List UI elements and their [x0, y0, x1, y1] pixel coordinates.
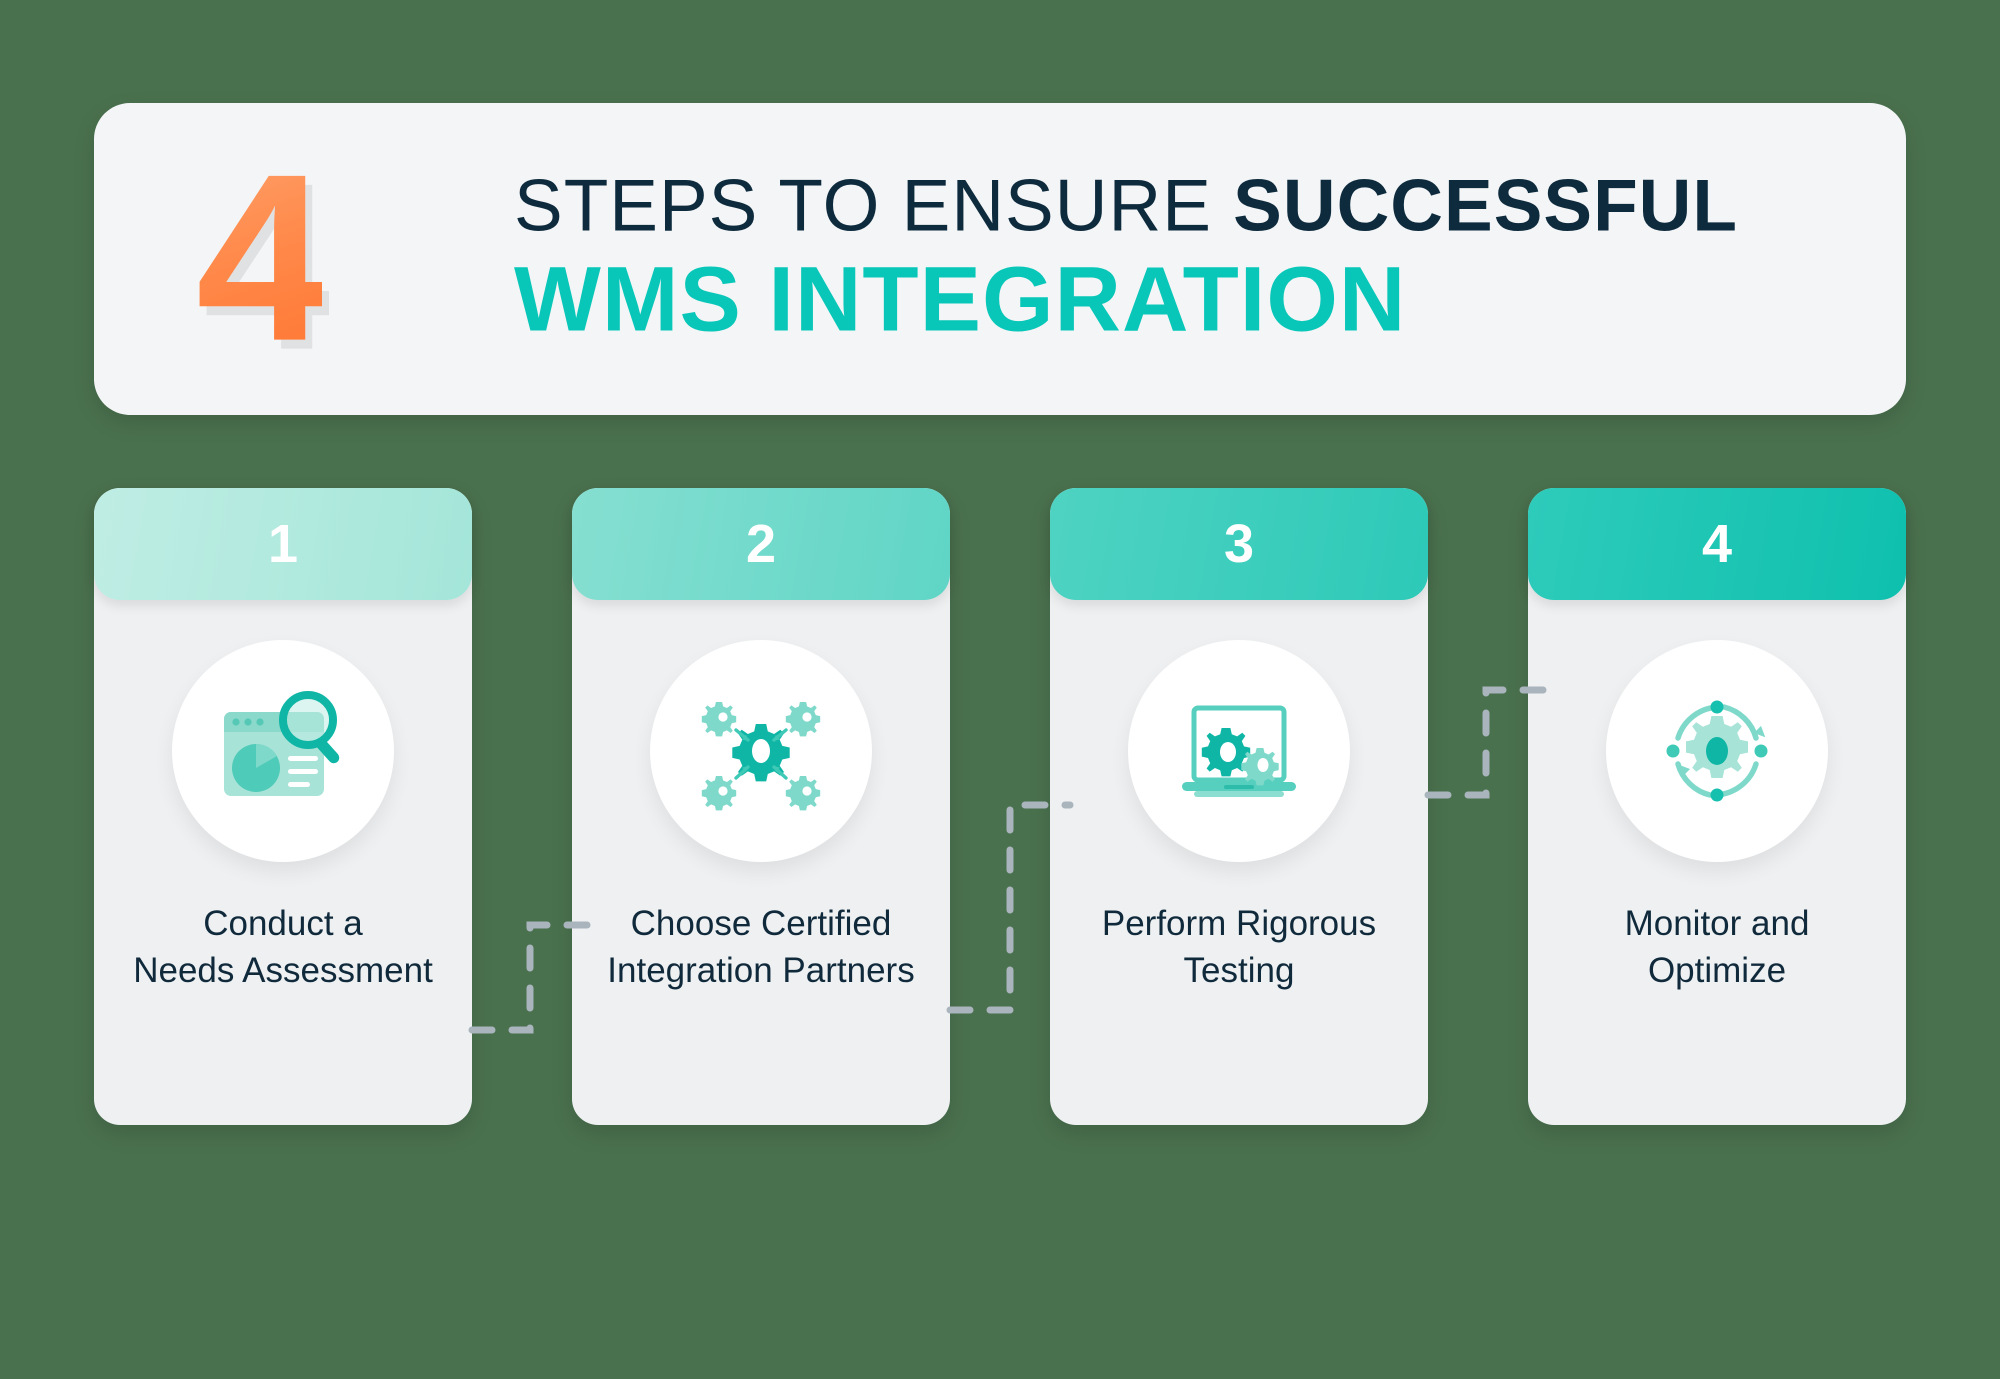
step-number-2: 2 — [746, 517, 776, 571]
dashboard-search-icon — [172, 640, 394, 862]
step-header-2: 2 — [572, 488, 950, 600]
page-title-line-2: WMS INTEGRATION — [514, 251, 1738, 350]
step-caption-4: Monitor and Optimize — [1538, 900, 1896, 995]
step-number-3: 3 — [1224, 517, 1254, 571]
step-card-1[interactable]: 1 Conduct a Needs Assessment — [94, 488, 472, 1125]
step-header-3: 3 — [1050, 488, 1428, 600]
header-card: 4 STEPS TO ENSURE SUCCESSFUL WMS INTEGRA… — [94, 103, 1906, 415]
page-title-line-1: STEPS TO ENSURE SUCCESSFUL — [514, 168, 1738, 245]
step-card-3[interactable]: 3 Perform Rigorous Testing — [1050, 488, 1428, 1125]
title-bold-text: SUCCESSFUL — [1233, 166, 1738, 247]
step-card-4[interactable]: 4 — [1528, 488, 1906, 1125]
gear-cycle-icon — [1606, 640, 1828, 862]
step-caption-1: Conduct a Needs Assessment — [104, 900, 462, 995]
step-caption-2: Choose Certified Integration Partners — [582, 900, 940, 995]
laptop-gears-icon — [1128, 640, 1350, 862]
header-title-block: STEPS TO ENSURE SUCCESSFUL WMS INTEGRATI… — [514, 168, 1738, 351]
step-number-1: 1 — [268, 517, 298, 571]
step-caption-3: Perform Rigorous Testing — [1060, 900, 1418, 995]
step-count-number: 4 — [196, 157, 322, 362]
step-header-1: 1 — [94, 488, 472, 600]
title-regular-text: STEPS TO ENSURE — [514, 166, 1233, 247]
gear-network-icon — [650, 640, 872, 862]
step-card-2[interactable]: 2 — [572, 488, 950, 1125]
step-header-4: 4 — [1528, 488, 1906, 600]
step-number-4: 4 — [1702, 517, 1732, 571]
